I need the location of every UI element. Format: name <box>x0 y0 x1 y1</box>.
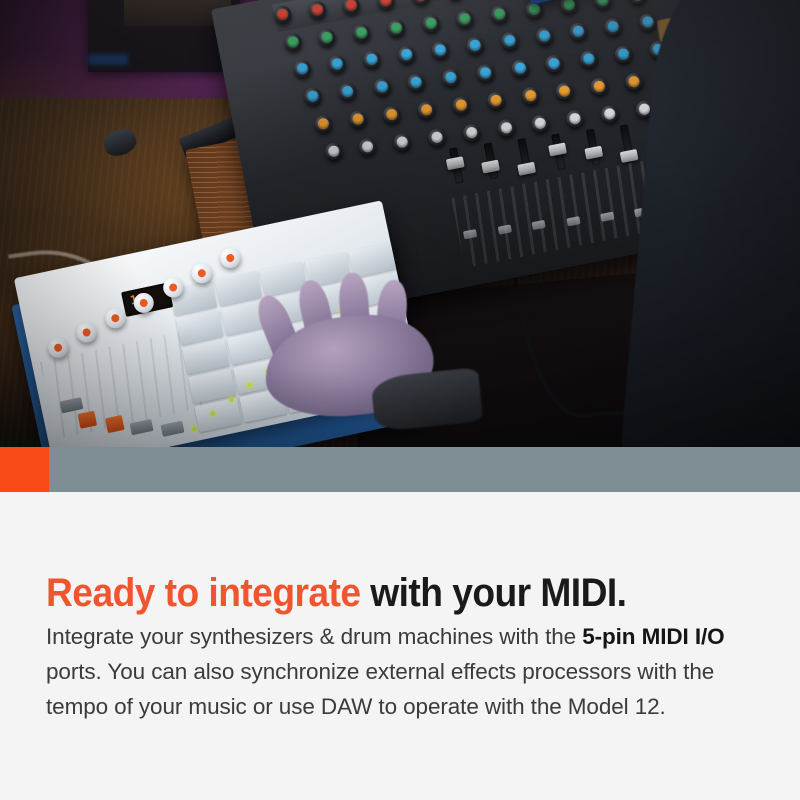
groovebox-pad <box>195 397 242 432</box>
page-title: Ready to integrate with your MIDI. <box>46 572 626 614</box>
body-text-part2: ports. You can also synchronize external… <box>46 659 714 719</box>
page-title-rest: with your MIDI. <box>360 571 626 615</box>
body-text-part1: Integrate your synthesizers & drum machi… <box>46 624 582 649</box>
promo-page: 12 <box>0 0 800 800</box>
groovebox-gray-button <box>160 420 184 436</box>
divider-accent-block <box>0 447 49 492</box>
divider-bar <box>0 447 800 492</box>
groovebox-pad <box>182 339 229 374</box>
body-text-strong: 5-pin MIDI I/O <box>582 624 724 649</box>
text-section: Ready to integrate with your MIDI. Integ… <box>0 492 800 800</box>
studio-photo: 12 <box>0 0 800 447</box>
body-paragraph: Integrate your synthesizers & drum machi… <box>46 619 736 724</box>
page-title-highlight: Ready to integrate <box>46 571 360 615</box>
divider-gray-block <box>49 447 800 492</box>
groovebox-knob <box>218 246 242 270</box>
groovebox-orange-button <box>105 415 125 433</box>
groovebox-led <box>191 425 197 431</box>
groovebox-knob <box>75 321 99 345</box>
hand <box>242 272 447 425</box>
